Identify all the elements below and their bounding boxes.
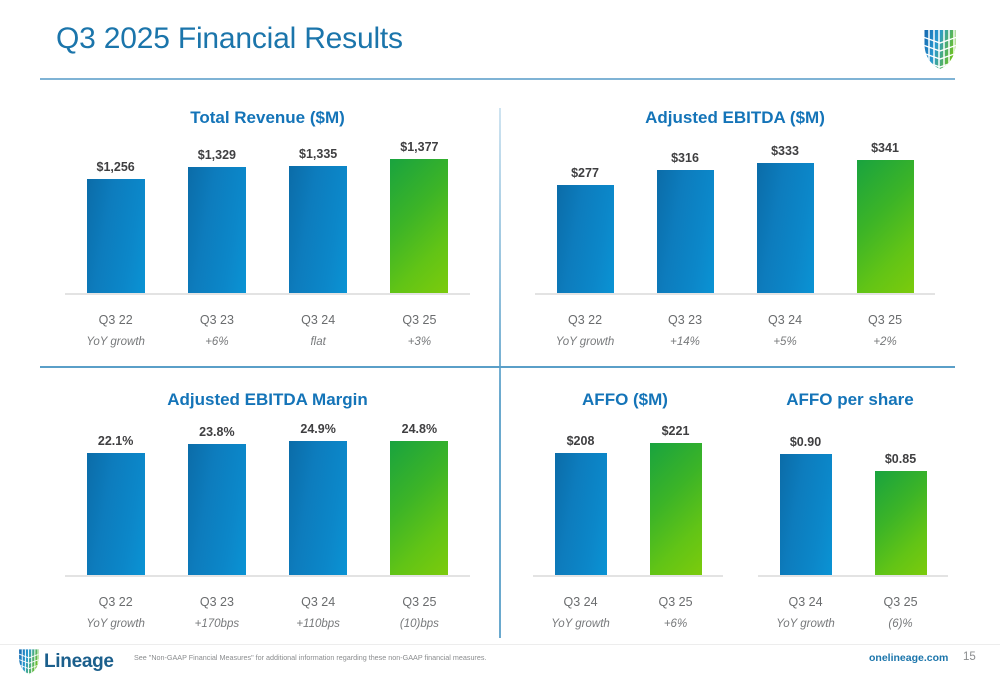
bar-rect — [188, 444, 246, 575]
bar-item: 22.1% — [87, 422, 145, 575]
bar-value-label: $0.85 — [885, 452, 916, 466]
axis-baseline — [535, 293, 935, 295]
category-label: Q3 25 — [628, 595, 723, 609]
category-labels: Q3 24 Q3 25 — [533, 595, 723, 609]
bar-rect — [289, 441, 347, 575]
category-label: Q3 25 — [853, 595, 948, 609]
yoy-growth-value: +6% — [166, 336, 267, 348]
yoy-growth-value: +3% — [369, 336, 470, 348]
category-label: Q3 23 — [635, 313, 735, 327]
bar-rect — [857, 160, 914, 293]
category-label: Q3 24 — [735, 313, 835, 327]
yoy-growth-value: (10)bps — [369, 618, 470, 630]
bar-value-label: $208 — [567, 434, 595, 448]
bar-value-label: $221 — [662, 424, 690, 438]
bar-item: $0.85 — [875, 422, 927, 575]
chart-affo: AFFO ($M) $208 $221 Q3 24 Q3 25 YoY grow… — [515, 390, 735, 640]
quadrant-divider-vertical — [499, 108, 501, 638]
yoy-growth-row: YoY growth +6% flat +3% — [65, 336, 470, 348]
yoy-growth-value: +2% — [835, 336, 935, 348]
yoy-growth-label: YoY growth — [535, 336, 635, 348]
yoy-growth-value: +5% — [735, 336, 835, 348]
bar-value-label: $0.90 — [790, 435, 821, 449]
bar-value-label: 22.1% — [98, 434, 133, 448]
yoy-growth-value: +110bps — [268, 618, 369, 630]
lineage-shield-icon — [923, 28, 957, 70]
yoy-growth-row: YoY growth +170bps +110bps (10)bps — [65, 618, 470, 630]
bar-value-label: $316 — [671, 151, 699, 165]
bar-item: $277 — [557, 140, 614, 293]
bar-value-label: $333 — [771, 144, 799, 158]
lineage-logo: Lineage — [18, 648, 114, 675]
yoy-growth-label: YoY growth — [533, 618, 628, 630]
category-label: Q3 25 — [369, 313, 470, 327]
yoy-growth-row: YoY growth +6% — [533, 618, 723, 630]
axis-baseline — [758, 575, 948, 577]
bar-rect — [188, 167, 246, 293]
bar-rect — [87, 453, 145, 575]
axis-baseline — [533, 575, 723, 577]
bar-value-label: 23.8% — [199, 425, 234, 439]
category-label: Q3 23 — [166, 595, 267, 609]
lineage-shield-icon — [18, 648, 40, 675]
bar-rect — [557, 185, 614, 293]
chart-title: Adjusted EBITDA Margin — [40, 390, 495, 410]
category-labels: Q3 24 Q3 25 — [758, 595, 948, 609]
bar-value-label: $1,329 — [198, 148, 236, 162]
bar-value-label: $1,377 — [400, 140, 438, 154]
bar-rect — [757, 163, 814, 293]
bar-item: 24.8% — [390, 422, 448, 575]
category-labels: Q3 22 Q3 23 Q3 24 Q3 25 — [65, 595, 470, 609]
bar-rect — [650, 443, 702, 575]
bar-value-label: $1,256 — [97, 160, 135, 174]
bar-value-label: $277 — [571, 166, 599, 180]
bar-rect — [87, 179, 145, 293]
chart-adjusted-ebitda: Adjusted EBITDA ($M) $277 $316 $333 $341… — [510, 108, 960, 358]
yoy-growth-value: +170bps — [166, 618, 267, 630]
bar-value-label: 24.9% — [300, 422, 335, 436]
category-label: Q3 24 — [533, 595, 628, 609]
bar-item: $333 — [757, 140, 814, 293]
yoy-growth-row: YoY growth +14% +5% +2% — [535, 336, 935, 348]
bar-rect — [390, 159, 448, 293]
chart-title: AFFO per share — [740, 390, 960, 410]
chart-title: Adjusted EBITDA ($M) — [510, 108, 960, 128]
category-label: Q3 22 — [65, 595, 166, 609]
bar-item: $1,377 — [390, 140, 448, 293]
yoy-growth-value: flat — [268, 336, 369, 348]
bar-rect — [390, 441, 448, 575]
chart-total-revenue: Total Revenue ($M) $1,256 $1,329 $1,335 … — [40, 108, 495, 358]
chart-adjusted-ebitda-margin: Adjusted EBITDA Margin 22.1% 23.8% 24.9%… — [40, 390, 495, 640]
bar-item: $1,256 — [87, 140, 145, 293]
yoy-growth-label: YoY growth — [65, 618, 166, 630]
bar-item: $0.90 — [780, 422, 832, 575]
page-title: Q3 2025 Financial Results — [56, 22, 403, 56]
category-label: Q3 24 — [268, 595, 369, 609]
bar-rect — [657, 170, 714, 293]
page-number: 15 — [963, 651, 976, 663]
category-label: Q3 22 — [535, 313, 635, 327]
bar-rect — [555, 453, 607, 575]
footer-divider — [0, 644, 1000, 645]
bar-value-label: $341 — [871, 141, 899, 155]
bar-item: $316 — [657, 140, 714, 293]
bar-item: $1,335 — [289, 140, 347, 293]
category-label: Q3 24 — [268, 313, 369, 327]
bar-rect — [289, 166, 347, 293]
yoy-growth-value: +6% — [628, 618, 723, 630]
bar-value-label: 24.8% — [402, 422, 437, 436]
category-label: Q3 23 — [166, 313, 267, 327]
yoy-growth-value: +14% — [635, 336, 735, 348]
quadrant-divider-horizontal — [40, 366, 955, 368]
category-label: Q3 24 — [758, 595, 853, 609]
axis-baseline — [65, 575, 470, 577]
bar-item: 23.8% — [188, 422, 246, 575]
bar-item: $341 — [857, 140, 914, 293]
yoy-growth-value: (6)% — [853, 618, 948, 630]
bar-rect — [875, 471, 927, 575]
category-label: Q3 25 — [835, 313, 935, 327]
yoy-growth-row: YoY growth (6)% — [758, 618, 948, 630]
category-labels: Q3 22 Q3 23 Q3 24 Q3 25 — [65, 313, 470, 327]
category-label: Q3 25 — [369, 595, 470, 609]
chart-title: AFFO ($M) — [515, 390, 735, 410]
chart-affo-per-share: AFFO per share $0.90 $0.85 Q3 24 Q3 25 Y… — [740, 390, 960, 640]
yoy-growth-label: YoY growth — [758, 618, 853, 630]
non-gaap-footnote: See "Non-GAAP Financial Measures" for ad… — [134, 653, 486, 662]
lineage-wordmark: Lineage — [44, 651, 114, 673]
bar-item: $221 — [650, 422, 702, 575]
bar-item: $1,329 — [188, 140, 246, 293]
footer-url[interactable]: onelineage.com — [869, 652, 948, 664]
bar-item: $208 — [555, 422, 607, 575]
title-divider — [40, 78, 955, 80]
bar-item: 24.9% — [289, 422, 347, 575]
chart-title: Total Revenue ($M) — [40, 108, 495, 128]
bar-rect — [780, 454, 832, 575]
category-labels: Q3 22 Q3 23 Q3 24 Q3 25 — [535, 313, 935, 327]
category-label: Q3 22 — [65, 313, 166, 327]
axis-baseline — [65, 293, 470, 295]
bar-value-label: $1,335 — [299, 147, 337, 161]
yoy-growth-label: YoY growth — [65, 336, 166, 348]
